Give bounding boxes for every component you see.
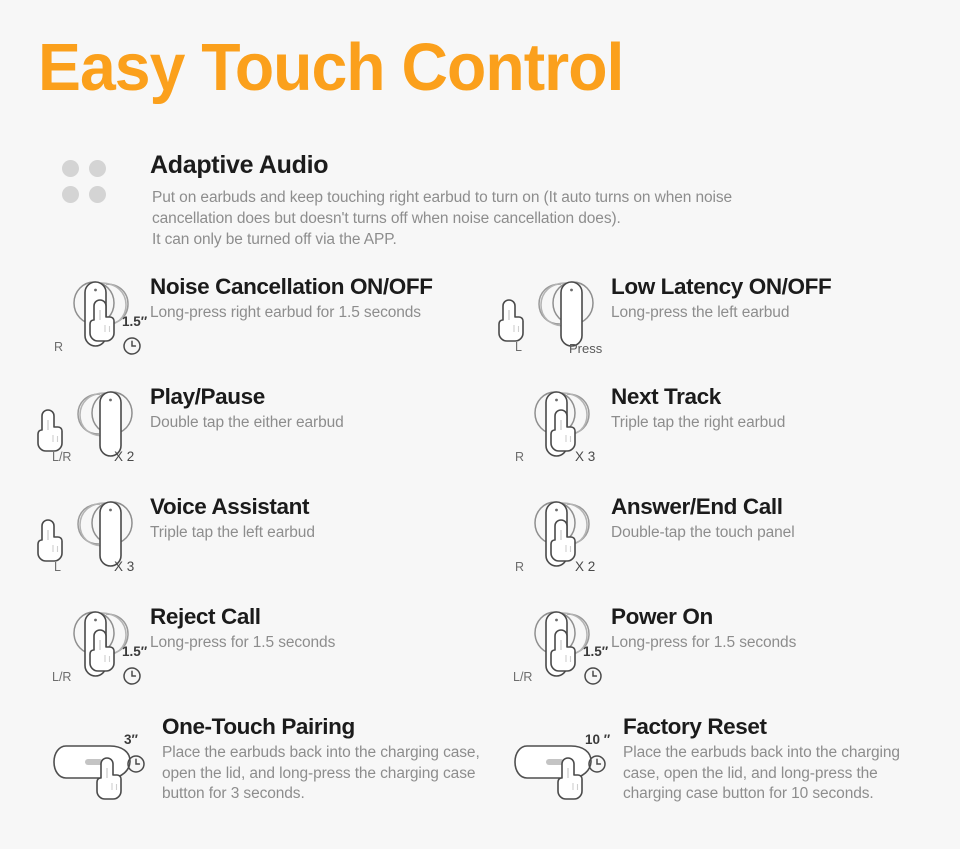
earbud-side-label: L bbox=[515, 340, 522, 354]
feature-item: L/R1.5″Reject CallLong-press for 1.5 sec… bbox=[52, 598, 532, 708]
feature-text: Factory ResetPlace the earbuds back into… bbox=[623, 714, 960, 805]
feature-row: 3″One-Touch PairingPlace the earbuds bac… bbox=[0, 708, 960, 828]
page-title: Easy Touch Control bbox=[38, 34, 623, 101]
earbud-side-label: R bbox=[515, 450, 524, 464]
earbud-side-label: L/R bbox=[52, 450, 71, 464]
feature-row: L/RX 2Play/PauseDouble tap the either ea… bbox=[0, 378, 960, 488]
feature-row: L/R1.5″Reject CallLong-press for 1.5 sec… bbox=[0, 598, 960, 708]
feature-description: Double tap the either earbud bbox=[150, 413, 530, 434]
clock-icon bbox=[126, 754, 146, 774]
feature-title: One-Touch Pairing bbox=[162, 714, 522, 739]
feature-description: Triple tap the right earbud bbox=[611, 413, 960, 434]
charging-case-icon-group: 10 ″ bbox=[513, 714, 633, 800]
feature-title: Power On bbox=[611, 604, 960, 629]
feature-item: 10 ″Factory ResetPlace the earbuds back … bbox=[513, 708, 960, 828]
duration-label: 1.5″ bbox=[583, 644, 608, 659]
feature-title: Reject Call bbox=[150, 604, 530, 629]
adaptive-audio-title: Adaptive Audio bbox=[150, 152, 890, 180]
feature-item: L/RX 2Play/PauseDouble tap the either ea… bbox=[52, 378, 532, 488]
feature-description: Long-press for 1.5 seconds bbox=[611, 633, 960, 654]
feature-text: Play/PauseDouble tap the either earbud bbox=[150, 384, 530, 434]
feature-text: Next TrackTriple tap the right earbud bbox=[611, 384, 960, 434]
feature-title: Next Track bbox=[611, 384, 960, 409]
feature-item: LPressLow Latency ON/OFFLong-press the l… bbox=[513, 268, 960, 378]
clock-icon bbox=[122, 336, 142, 356]
tap-count-label: X 3 bbox=[114, 559, 134, 574]
duration-label: 3″ bbox=[124, 732, 138, 747]
feature-row: R1.5″Noise Cancellation ON/OFFLong-press… bbox=[0, 268, 960, 378]
feature-description: Long-press for 1.5 seconds bbox=[150, 633, 530, 654]
duration-label: 1.5″ bbox=[122, 314, 147, 329]
tap-count-label: X 3 bbox=[575, 449, 595, 464]
earbud-side-label: R bbox=[515, 560, 524, 574]
duration-label: 10 ″ bbox=[585, 732, 610, 747]
feature-item: LX 3Voice AssistantTriple tap the left e… bbox=[52, 488, 532, 598]
feature-text: Noise Cancellation ON/OFFLong-press righ… bbox=[150, 274, 530, 324]
feature-item: RX 3Next TrackTriple tap the right earbu… bbox=[513, 378, 960, 488]
feature-item: RX 2Answer/End CallDouble-tap the touch … bbox=[513, 488, 960, 598]
feature-title: Low Latency ON/OFF bbox=[611, 274, 960, 299]
feature-text: Answer/End CallDouble-tap the touch pane… bbox=[611, 494, 960, 544]
clock-icon bbox=[122, 666, 142, 686]
feature-text: Low Latency ON/OFFLong-press the left ea… bbox=[611, 274, 960, 324]
feature-grid: R1.5″Noise Cancellation ON/OFFLong-press… bbox=[0, 268, 960, 828]
feature-description: Long-press the left earbud bbox=[611, 303, 960, 324]
clock-icon bbox=[583, 666, 603, 686]
feature-title: Noise Cancellation ON/OFF bbox=[150, 274, 530, 299]
feature-description: Place the earbuds back into the charging… bbox=[623, 743, 960, 805]
press-label: Press bbox=[569, 341, 602, 356]
feature-text: Voice AssistantTriple tap the left earbu… bbox=[150, 494, 530, 544]
feature-description: Long-press right earbud for 1.5 seconds bbox=[150, 303, 530, 324]
product-feature-infographic: Easy Touch Control Adaptive Audio Put on… bbox=[0, 0, 960, 849]
feature-title: Factory Reset bbox=[623, 714, 960, 739]
feature-item: R1.5″Noise Cancellation ON/OFFLong-press… bbox=[52, 268, 532, 378]
clock-icon bbox=[587, 754, 607, 774]
feature-item: 3″One-Touch PairingPlace the earbuds bac… bbox=[52, 708, 532, 828]
tap-count-label: X 2 bbox=[575, 559, 595, 574]
feature-description: Place the earbuds back into the charging… bbox=[162, 743, 522, 805]
feature-text: One-Touch PairingPlace the earbuds back … bbox=[162, 714, 522, 805]
feature-title: Play/Pause bbox=[150, 384, 530, 409]
feature-text: Reject CallLong-press for 1.5 seconds bbox=[150, 604, 530, 654]
earbud-side-label: L/R bbox=[52, 670, 71, 684]
four-dots-icon bbox=[62, 160, 106, 202]
charging-case-icon-group: 3″ bbox=[52, 714, 172, 800]
feature-row: LX 3Voice AssistantTriple tap the left e… bbox=[0, 488, 960, 598]
duration-label: 1.5″ bbox=[122, 644, 147, 659]
feature-description: Double-tap the touch panel bbox=[611, 523, 960, 544]
feature-item: L/R1.5″Power OnLong-press for 1.5 second… bbox=[513, 598, 960, 708]
tap-count-label: X 2 bbox=[114, 449, 134, 464]
feature-title: Answer/End Call bbox=[611, 494, 960, 519]
adaptive-audio-description: Put on earbuds and keep touching right e… bbox=[152, 187, 890, 251]
feature-text: Power OnLong-press for 1.5 seconds bbox=[611, 604, 960, 654]
earbud-side-label: L bbox=[54, 560, 61, 574]
feature-title: Voice Assistant bbox=[150, 494, 530, 519]
feature-description: Triple tap the left earbud bbox=[150, 523, 530, 544]
earbud-side-label: R bbox=[54, 340, 63, 354]
earbud-side-label: L/R bbox=[513, 670, 532, 684]
